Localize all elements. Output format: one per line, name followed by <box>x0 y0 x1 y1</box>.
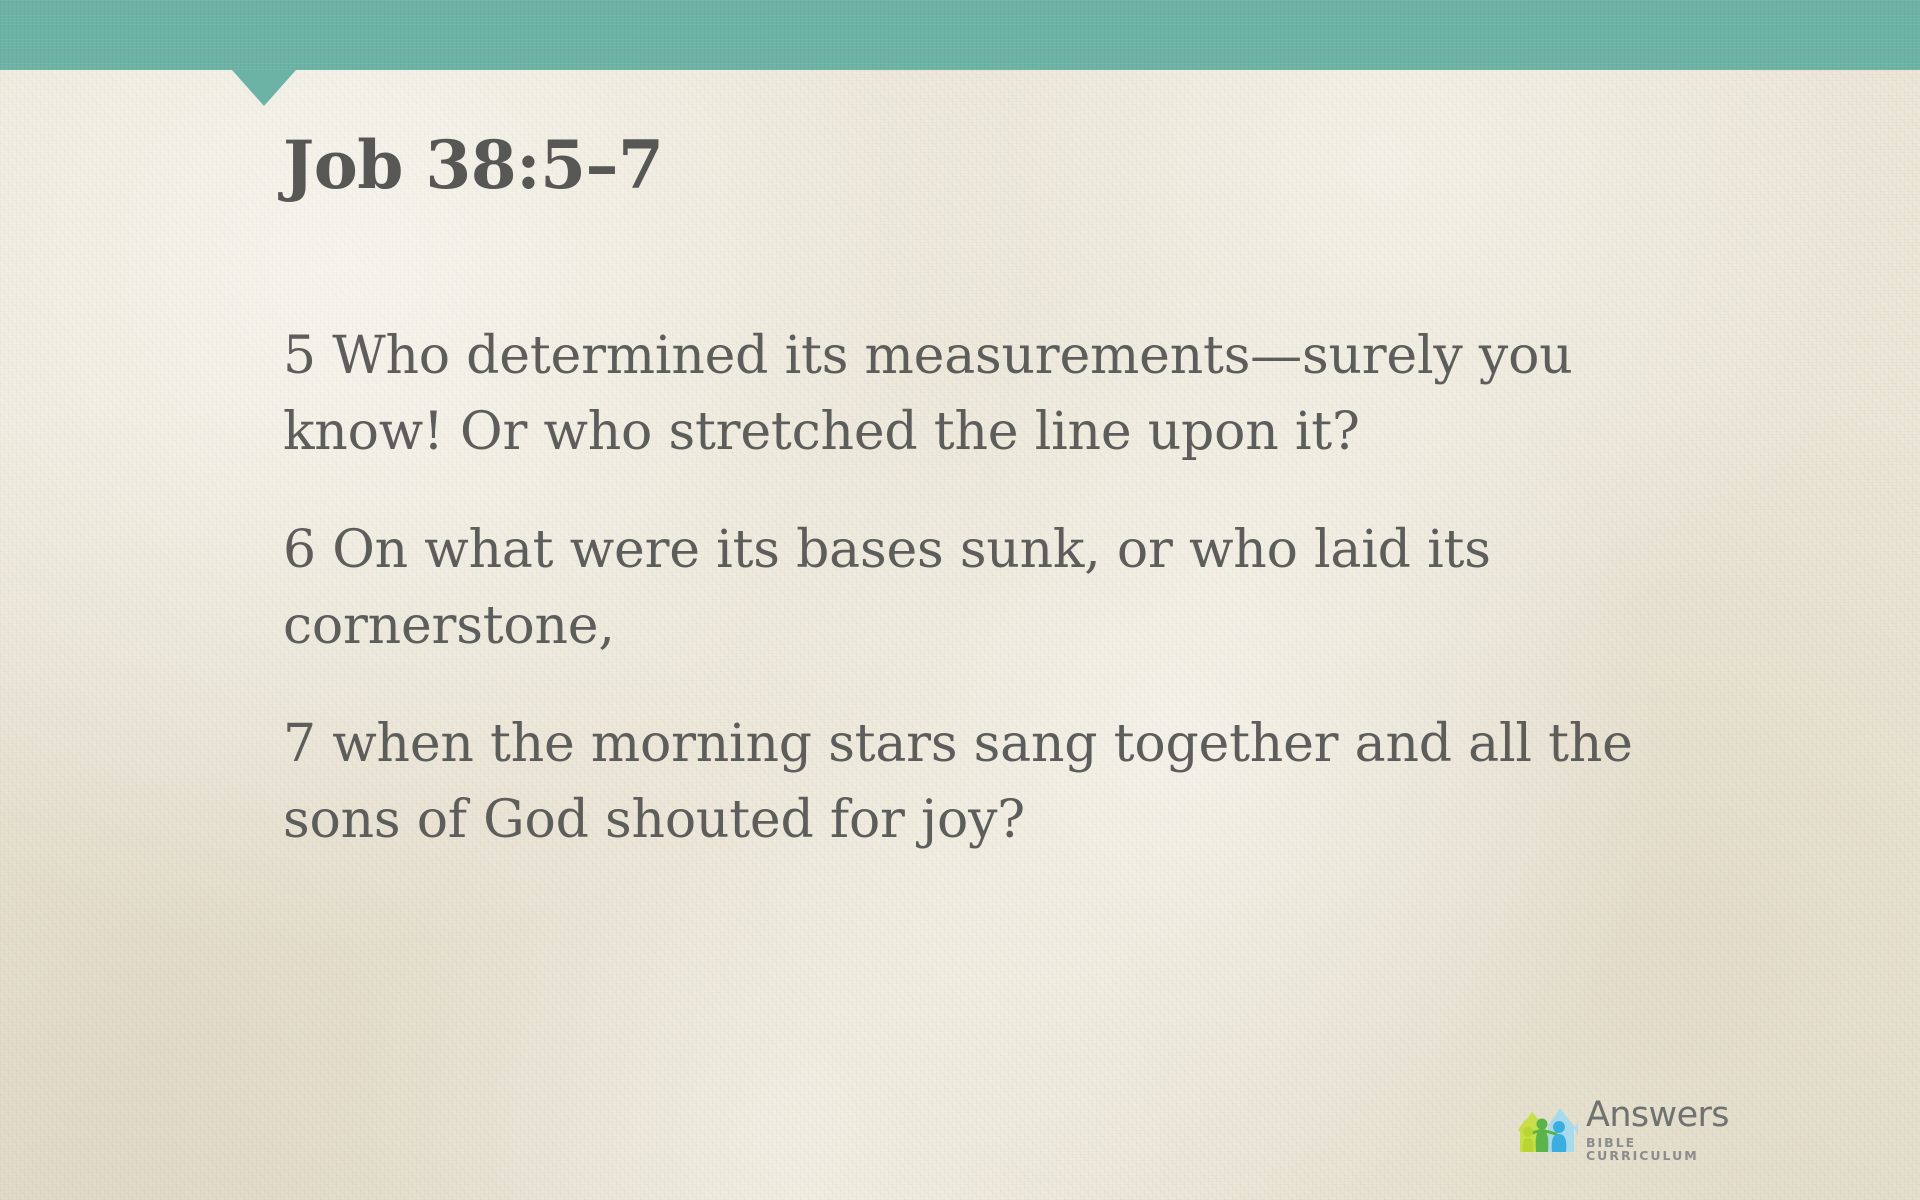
verse-paragraph: 5 Who determined its measurements—surely… <box>283 318 1703 470</box>
logo-wordmark: Answers BIBLE CURRICULUM <box>1586 1097 1746 1163</box>
page-title: Job 38:5–7 <box>283 132 663 198</box>
slide-content: Job 38:5–7 5 Who determined its measurem… <box>0 0 1920 1200</box>
triangle-down-icon <box>232 70 296 106</box>
verse-paragraph: 6 On what were its bases sunk, or who la… <box>283 512 1703 664</box>
logo-tagline: BIBLE CURRICULUM <box>1586 1136 1746 1164</box>
logo: Answers BIBLE CURRICULUM <box>1516 1098 1746 1162</box>
top-banner <box>0 0 1920 70</box>
three-figures-house-icon <box>1516 1100 1580 1160</box>
logo-name: Answers <box>1586 1099 1746 1133</box>
scripture-slide: Job 38:5–7 5 Who determined its measurem… <box>0 0 1920 1200</box>
top-banner-texture <box>0 0 1920 70</box>
verse-list: 5 Who determined its measurements—surely… <box>283 318 1703 858</box>
verse-paragraph: 7 when the morning stars sang together a… <box>283 706 1703 858</box>
